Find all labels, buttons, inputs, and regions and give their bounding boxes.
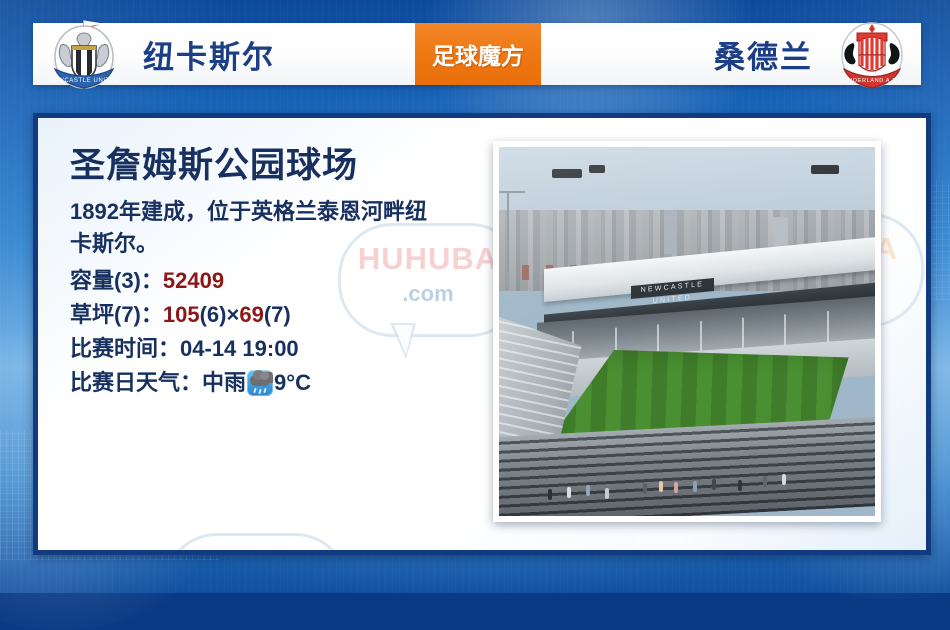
pitch-size-times: × xyxy=(227,302,240,327)
home-team-name: 纽卡斯尔 xyxy=(143,32,275,77)
stadium-info-card: HUHUBA .com HUHUBA .com HUHUBA .com 欢呼吧 … xyxy=(33,113,931,555)
brand-logo-box[interactable]: 足球魔方 xyxy=(415,23,541,85)
watermark-bubble-text: HUHUBA xyxy=(163,551,343,555)
pitch-size-row: 草坪(7)：105(6)×69(7) xyxy=(70,298,470,332)
sunderland-afc-crest-icon: SUNDERLAND A.F.C. xyxy=(835,17,909,91)
pitch-width-value: 69 xyxy=(239,302,263,327)
pitch-length-rank: (6) xyxy=(200,302,227,327)
stadium-title: 圣詹姆斯公园球场 xyxy=(70,146,470,186)
match-time-value: 04-14 19:00 xyxy=(180,336,299,361)
capacity-label: 容量(3)： xyxy=(70,268,163,293)
moderate-rain-icon xyxy=(247,370,273,396)
svg-text:NEWCASTLE UNITED: NEWCASTLE UNITED xyxy=(49,78,120,84)
match-weather-label: 比赛日天气： xyxy=(70,370,202,395)
watermark-bubble: HUHUBA .com xyxy=(163,533,343,555)
brand-logo-text: 足球魔方 xyxy=(432,37,524,71)
away-team-block[interactable]: 桑德兰 SUNDERLAND A.F.C. xyxy=(557,17,921,91)
svg-text:SUNDERLAND A.F.C.: SUNDERLAND A.F.C. xyxy=(839,78,904,84)
newcastle-united-crest-icon: NEWCASTLE UNITED xyxy=(47,17,121,91)
match-time-row: 比赛时间：04-14 19:00 xyxy=(70,332,470,366)
match-weather-row: 比赛日天气：中雨9°C xyxy=(70,366,470,400)
pitch-size-label: 草坪(7)： xyxy=(70,302,163,327)
match-temperature: 9°C xyxy=(274,370,311,395)
match-weather-text: 中雨 xyxy=(202,370,246,395)
match-header-bar: NEWCASTLE UNITED 纽卡斯尔 足球魔方 桑德兰 xyxy=(33,23,921,85)
stadium-info-column: 圣詹姆斯公园球场 1892年建成，位于英格兰泰恩河畔纽卡斯尔。 容量(3)：52… xyxy=(70,146,470,400)
brand-logo-block[interactable]: 足球魔方 xyxy=(399,23,557,85)
stadium-photo-frame[interactable]: NEWCASTLE UNITED xyxy=(493,141,881,522)
pitch-length-value: 105 xyxy=(163,302,200,327)
match-time-label: 比赛时间： xyxy=(70,336,180,361)
stadium-photo: NEWCASTLE UNITED xyxy=(499,147,875,516)
pitch-width-rank: (7) xyxy=(264,302,291,327)
stadium-description: 1892年建成，位于英格兰泰恩河畔纽卡斯尔。 xyxy=(70,196,430,260)
away-team-name: 桑德兰 xyxy=(714,32,813,77)
capacity-value: 52409 xyxy=(163,268,224,293)
capacity-row: 容量(3)：52409 xyxy=(70,264,470,298)
home-team-block[interactable]: NEWCASTLE UNITED 纽卡斯尔 xyxy=(33,17,399,91)
